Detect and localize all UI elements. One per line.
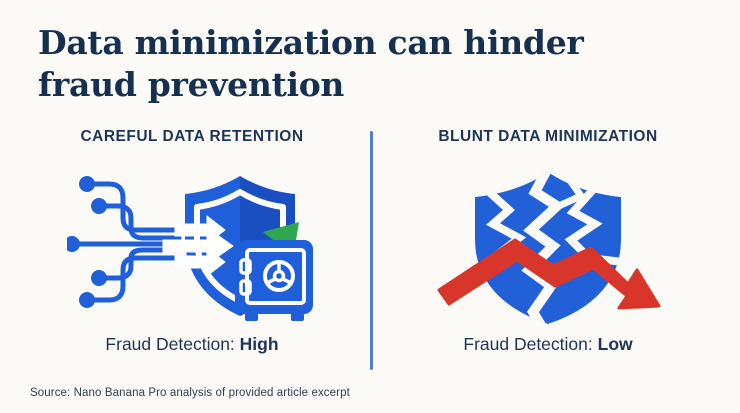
caption-label-right: Fraud Detection: bbox=[463, 334, 592, 354]
panel-heading-right: BLUNT DATA MINIMIZATION bbox=[378, 128, 718, 146]
cracked-shield-icon bbox=[378, 162, 718, 330]
source-note: Source: Nano Banana Pro analysis of prov… bbox=[30, 387, 350, 399]
page-title: Data minimization can hinder fraud preve… bbox=[38, 22, 638, 106]
caption-value-left: High bbox=[240, 334, 279, 354]
panel-blunt-data-minimization: BLUNT DATA MINIMIZATION bbox=[378, 128, 718, 378]
panel-careful-data-retention: CAREFUL DATA RETENTION bbox=[22, 128, 362, 378]
infographic-canvas: Data minimization can hinder fraud preve… bbox=[0, 0, 740, 413]
intact-shield-icon bbox=[22, 162, 362, 330]
panel-divider bbox=[370, 131, 373, 370]
caption-right: Fraud Detection: Low bbox=[378, 334, 718, 355]
panel-heading-left: CAREFUL DATA RETENTION bbox=[22, 128, 362, 146]
caption-value-right: Low bbox=[598, 334, 633, 354]
caption-label-left: Fraud Detection: bbox=[105, 334, 234, 354]
caption-left: Fraud Detection: High bbox=[22, 334, 362, 355]
